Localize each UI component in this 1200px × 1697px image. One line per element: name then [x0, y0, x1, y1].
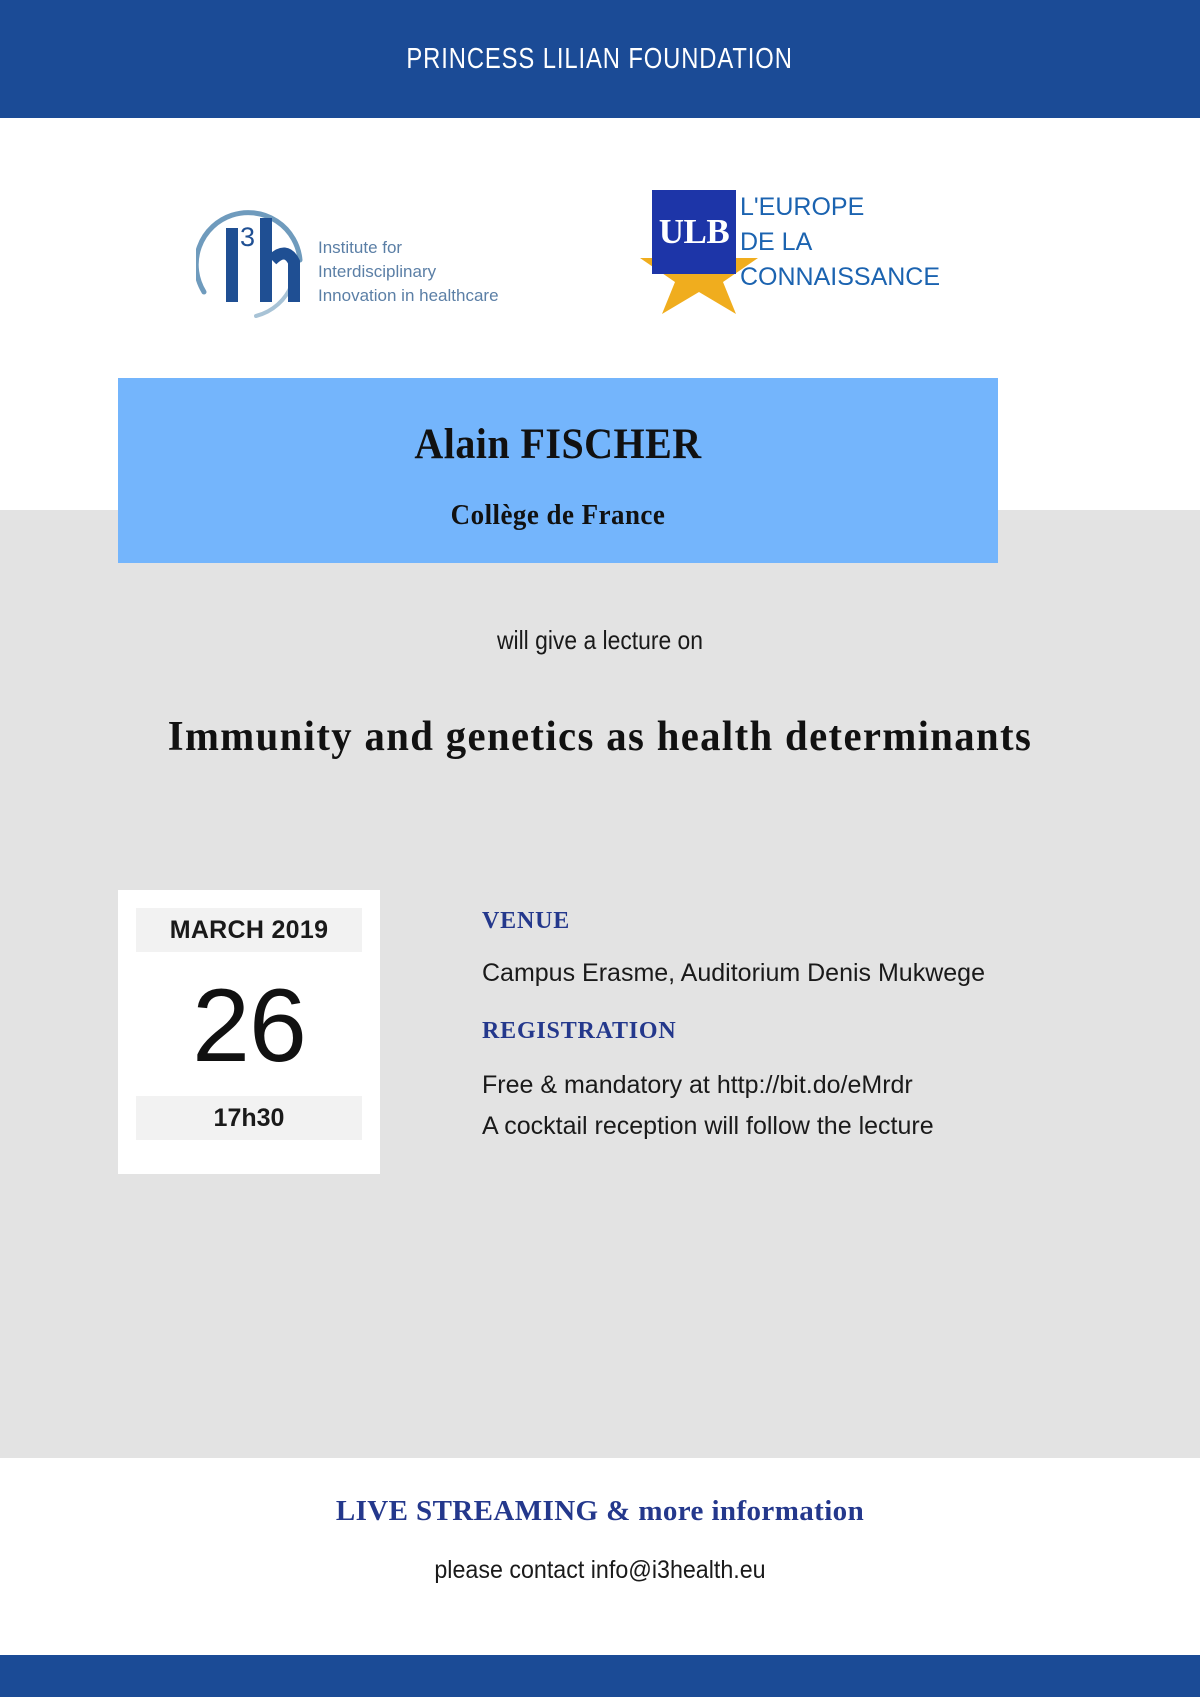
i3h-wordmark: Institute for Interdisciplinary Innovati… — [318, 236, 499, 308]
ulb-wordmark: L'EUROPE DE LA CONNAISSANCE — [740, 190, 940, 295]
live-streaming-heading: LIVE STREAMING & more information — [0, 1495, 1200, 1528]
bottom-bar — [0, 1655, 1200, 1697]
registration-link-line[interactable]: Free & mandatory at http://bit.do/eMrdr — [482, 1071, 1122, 1100]
i3h-line-3: Innovation in healthcare — [318, 284, 499, 308]
lecture-intro-text: will give a lecture on — [72, 625, 1128, 656]
ulb-logo: ULB L'EUROPE DE LA CONNAISSANCE — [640, 180, 970, 325]
date-day-number: 26 — [118, 952, 380, 1078]
top-banner: PRINCESS LILIAN FOUNDATION — [0, 0, 1200, 118]
venue-text: Campus Erasme, Auditorium Denis Mukwege — [482, 959, 1122, 988]
speaker-banner: Alain FISCHER Collège de France — [118, 378, 998, 563]
speaker-affiliation: Collège de France — [149, 469, 967, 532]
lecture-title: Immunity and genetics as health determin… — [18, 713, 1182, 761]
contact-email-line[interactable]: please contact info@i3health.eu — [42, 1556, 1158, 1585]
i3h-mark-icon: 3 — [196, 188, 314, 318]
logo-row: 3 Institute for Interdisciplinary Innova… — [0, 170, 1200, 335]
event-details: VENUE Campus Erasme, Auditorium Denis Mu… — [482, 908, 1122, 1141]
venue-heading: VENUE — [482, 908, 1122, 935]
ulb-line-3: CONNAISSANCE — [740, 260, 940, 295]
foundation-title: PRINCESS LILIAN FOUNDATION — [407, 43, 793, 76]
ulb-line-2: DE LA — [740, 225, 940, 260]
svg-text:3: 3 — [240, 222, 255, 252]
ulb-mark-text: ULB — [659, 212, 729, 252]
registration-heading: REGISTRATION — [482, 1018, 1122, 1045]
i3h-line-1: Institute for — [318, 236, 499, 260]
speaker-name: Alain FISCHER — [149, 378, 967, 469]
footer: LIVE STREAMING & more information please… — [0, 1495, 1200, 1585]
registration-note-line: A cocktail reception will follow the lec… — [482, 1112, 1122, 1141]
ulb-line-1: L'EUROPE — [740, 190, 940, 225]
ulb-square: ULB — [652, 190, 736, 274]
date-time: 17h30 — [136, 1096, 362, 1140]
date-month-year: MARCH 2019 — [136, 908, 362, 952]
i3h-logo: 3 Institute for Interdisciplinary Innova… — [196, 188, 506, 318]
date-card: MARCH 2019 26 17h30 — [118, 890, 380, 1174]
i3h-line-2: Interdisciplinary — [318, 260, 499, 284]
